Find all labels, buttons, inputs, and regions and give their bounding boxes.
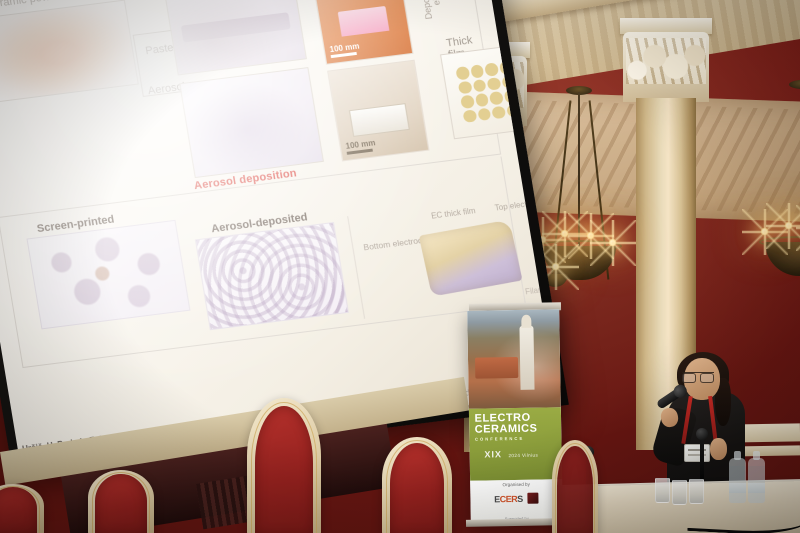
- electrode-dot: [491, 105, 505, 119]
- electrode-dot: [503, 89, 517, 103]
- banner-logo: ELECTRO CERAMICS CONFERENCE: [474, 413, 555, 443]
- chair-5: [552, 440, 598, 533]
- scale-bar-1: 100 mm: [329, 42, 361, 59]
- cross-section-photo: [419, 220, 523, 297]
- name-badge: [684, 444, 710, 462]
- banner-sponsor-panel: Organised by ECERS Supported by: [470, 479, 563, 523]
- electrode-dot: [474, 93, 488, 107]
- electrode-dot: [486, 77, 500, 91]
- screen-printing-photo: [163, 0, 307, 75]
- electrode-dot: [489, 91, 503, 105]
- water-bottle-2: [748, 458, 765, 503]
- ec-thick-film-label: EC thick film: [431, 206, 477, 220]
- cross-section-panel: EC thick film Top electrode Bottom elect…: [347, 191, 557, 319]
- organiser-logo-2: [528, 493, 539, 504]
- chair-4: [382, 437, 452, 533]
- electrode-dot: [506, 104, 520, 118]
- ceramic-powder-image: [0, 0, 139, 103]
- electrode-dot: [484, 62, 498, 76]
- ecers-logo: ECERS: [494, 494, 523, 504]
- banner-edition: XIX 2024 Vilnius: [484, 449, 538, 460]
- conference-hall-photo: IJS Ceramic powder Paste Aerosol Screen-…: [0, 0, 800, 533]
- sintering-photo: Sintering @ 900 °C 100 mm: [312, 0, 413, 65]
- electrode-dot-array: [455, 61, 520, 123]
- water-bottle-1: [729, 458, 746, 503]
- chair-1: [0, 484, 44, 533]
- scale-bar-2: 100 mm: [345, 138, 377, 155]
- microphone-capsule: [696, 428, 708, 440]
- chandelier-light: [608, 238, 617, 247]
- chandelier-canopy: [789, 80, 800, 89]
- electrode-dot: [470, 64, 484, 78]
- chair-backrest: [95, 474, 147, 533]
- organiser-logos: ECERS: [470, 492, 562, 505]
- chair-backrest: [0, 487, 37, 533]
- drinking-glass-1: [655, 478, 670, 503]
- chandelier-light: [784, 221, 793, 230]
- electrode-dot: [455, 66, 469, 80]
- banner-logo-line2: CERAMICS: [475, 424, 556, 436]
- banner-edition-detail: 2024 Vilnius: [508, 453, 538, 459]
- paste-label: Paste: [145, 42, 175, 57]
- organised-by-label: Organised by: [470, 481, 562, 488]
- chair-backrest: [557, 446, 593, 533]
- banner-city-photo: [467, 309, 561, 408]
- conference-banner: ELECTRO CERAMICS CONFERENCE XIX 2024 Vil…: [467, 309, 563, 523]
- electrode-dot: [477, 107, 491, 121]
- aerosol-deposition-photo: [179, 67, 324, 178]
- banner-logo-line3: CONFERENCE: [475, 437, 556, 443]
- electrode-dot: [499, 61, 513, 75]
- banner-rooftops: [475, 357, 518, 379]
- chair-3: [247, 398, 321, 533]
- chair-2: [88, 470, 154, 533]
- electrode-dot: [460, 95, 474, 109]
- chair-backrest: [390, 443, 445, 533]
- speaker-hand: [710, 438, 727, 460]
- electrode-dot: [458, 80, 472, 94]
- bottom-electrode-label: Bottom electrode: [363, 234, 428, 252]
- electrode-dot: [501, 75, 515, 89]
- banner-church-tower: [519, 325, 535, 390]
- microphone-cable: [687, 501, 800, 533]
- sintered-sample: [338, 6, 390, 37]
- sintered-sample-2: [349, 104, 410, 138]
- electrode-deposition-label: Deposition of the electrodes: [411, 0, 446, 32]
- electrode-dot: [472, 79, 486, 93]
- column-capital: [623, 32, 709, 102]
- chair-backrest: [255, 406, 313, 533]
- banner-logo-panel: ELECTRO CERAMICS CONFERENCE XIX 2024 Vil…: [469, 407, 562, 481]
- sintering-photo-2: 100 mm: [327, 60, 429, 162]
- electrode-dot: [462, 109, 476, 123]
- drinking-glass-2: [672, 480, 687, 505]
- screen-printed-microstructure: [27, 220, 191, 330]
- banner-edition-number: XIX: [484, 450, 502, 460]
- chandelier-right: [762, 86, 800, 276]
- glasses-icon: [682, 372, 714, 380]
- aerosol-deposited-microstructure: [195, 222, 349, 330]
- sconce-light: [551, 262, 560, 271]
